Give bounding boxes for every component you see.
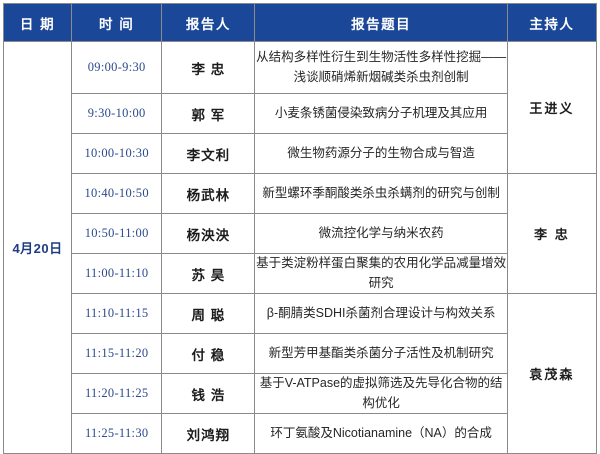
speaker-cell: 杨泱泱 xyxy=(162,214,255,254)
title-cell: 微生物药源分子的生物合成与智造 xyxy=(255,134,507,174)
speaker-cell: 周 聪 xyxy=(162,294,255,334)
speaker-cell: 郭 军 xyxy=(162,94,255,134)
time-cell: 10:00-10:30 xyxy=(72,134,162,174)
column-header-time: 时 间 xyxy=(72,4,162,42)
title-cell: 新型螺环季酮酸类杀虫杀螨剂的研究与创制 xyxy=(255,174,507,214)
speaker-cell: 杨武林 xyxy=(162,174,255,214)
host-cell: 李 忠 xyxy=(507,174,596,294)
speaker-cell: 苏 昊 xyxy=(162,254,255,294)
column-header-host: 主持人 xyxy=(507,4,596,42)
title-cell: 从结构多样性衍生到生物活性多样性挖掘——浅谈顺硝烯新烟碱类杀虫剂创制 xyxy=(255,42,507,94)
speaker-cell: 付 稳 xyxy=(162,334,255,374)
time-cell: 9:30-10:00 xyxy=(72,94,162,134)
title-cell: 小麦条锈菌侵染致病分子机理及其应用 xyxy=(255,94,507,134)
host-cell: 王进义 xyxy=(507,42,596,174)
time-cell: 11:20-11:25 xyxy=(72,374,162,414)
date-cell: 4月20日 xyxy=(4,42,72,454)
title-cell: 基于类淀粉样蛋白聚集的农用化学品减量增效研究 xyxy=(255,254,507,294)
time-cell: 11:10-11:15 xyxy=(72,294,162,334)
time-cell: 09:00-9:30 xyxy=(72,42,162,94)
title-cell: 环丁氨酸及Nicotianamine（NA）的合成 xyxy=(255,414,507,454)
time-cell: 11:25-11:30 xyxy=(72,414,162,454)
column-header-speaker: 报告人 xyxy=(162,4,255,42)
table-row: 4月20日 09:00-9:30 李 忠 从结构多样性衍生到生物活性多样性挖掘—… xyxy=(4,42,597,94)
speaker-cell: 钱 浩 xyxy=(162,374,255,414)
speaker-cell: 李 忠 xyxy=(162,42,255,94)
time-cell: 11:00-11:10 xyxy=(72,254,162,294)
table-row: 11:10-11:15 周 聪 β-酮腈类SDHI杀菌剂合理设计与构效关系 袁茂… xyxy=(4,294,597,334)
speaker-cell: 刘鸿翔 xyxy=(162,414,255,454)
title-cell: β-酮腈类SDHI杀菌剂合理设计与构效关系 xyxy=(255,294,507,334)
time-cell: 10:50-11:00 xyxy=(72,214,162,254)
speaker-cell: 李文利 xyxy=(162,134,255,174)
title-cell: 基于V-ATPase的虚拟筛选及先导化合物的结构优化 xyxy=(255,374,507,414)
table-header-row: 日 期 时 间 报告人 报告题目 主持人 xyxy=(4,4,597,42)
host-cell: 袁茂森 xyxy=(507,294,596,454)
time-cell: 11:15-11:20 xyxy=(72,334,162,374)
column-header-date: 日 期 xyxy=(4,4,72,42)
title-cell: 微流控化学与纳米农药 xyxy=(255,214,507,254)
title-cell: 新型芳甲基酯类杀菌分子活性及机制研究 xyxy=(255,334,507,374)
column-header-title: 报告题目 xyxy=(255,4,507,42)
conference-schedule-table: 日 期 时 间 报告人 报告题目 主持人 4月20日 09:00-9:30 李 … xyxy=(3,3,597,454)
table-row: 10:40-10:50 杨武林 新型螺环季酮酸类杀虫杀螨剂的研究与创制 李 忠 xyxy=(4,174,597,214)
time-cell: 10:40-10:50 xyxy=(72,174,162,214)
